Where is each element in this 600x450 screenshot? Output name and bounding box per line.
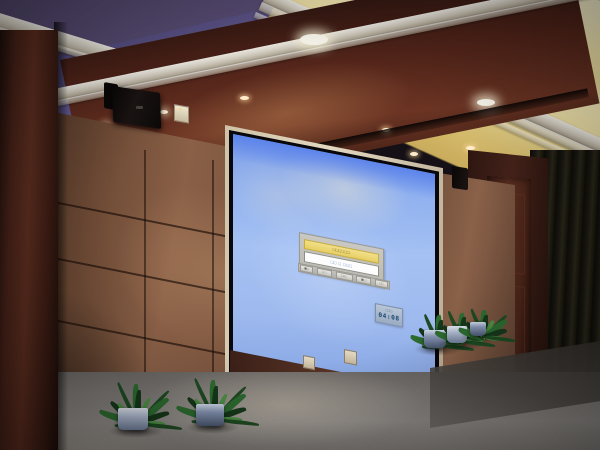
downlight-7 <box>160 110 168 114</box>
downlight-1 <box>300 34 328 45</box>
toolbar-button-5[interactable]: □□ <box>375 279 388 289</box>
wall-outlet-1[interactable] <box>303 355 315 370</box>
potted-plant-left-pot <box>118 408 148 430</box>
wall-outlet-2[interactable] <box>344 349 357 366</box>
wall-speaker-right <box>452 166 468 190</box>
downlight-2 <box>477 99 495 106</box>
panel-seam-v-1 <box>144 150 146 390</box>
toolbar-button-4[interactable]: ▣ □ <box>356 275 371 285</box>
clock-time: 04:08 <box>378 312 399 324</box>
room-photo-scene: □□□□□□ □□ □ □□□ ▣□□ □□□□▣ □□□ □□□ 04:08 <box>0 0 600 450</box>
wall-plate-led-icon <box>179 108 181 110</box>
projector-lens <box>136 106 143 109</box>
wall-control-plate[interactable] <box>174 104 189 124</box>
panel-seam-v-2 <box>212 160 214 390</box>
potted-plant-center-pot <box>196 404 224 426</box>
potted-plant-right-3-pot <box>470 322 486 336</box>
wood-column <box>0 30 58 450</box>
toolbar-button-1[interactable]: ▣□ <box>300 264 313 274</box>
downlight-3 <box>240 96 249 100</box>
toolbar-button-2[interactable]: □ □ <box>317 268 332 278</box>
